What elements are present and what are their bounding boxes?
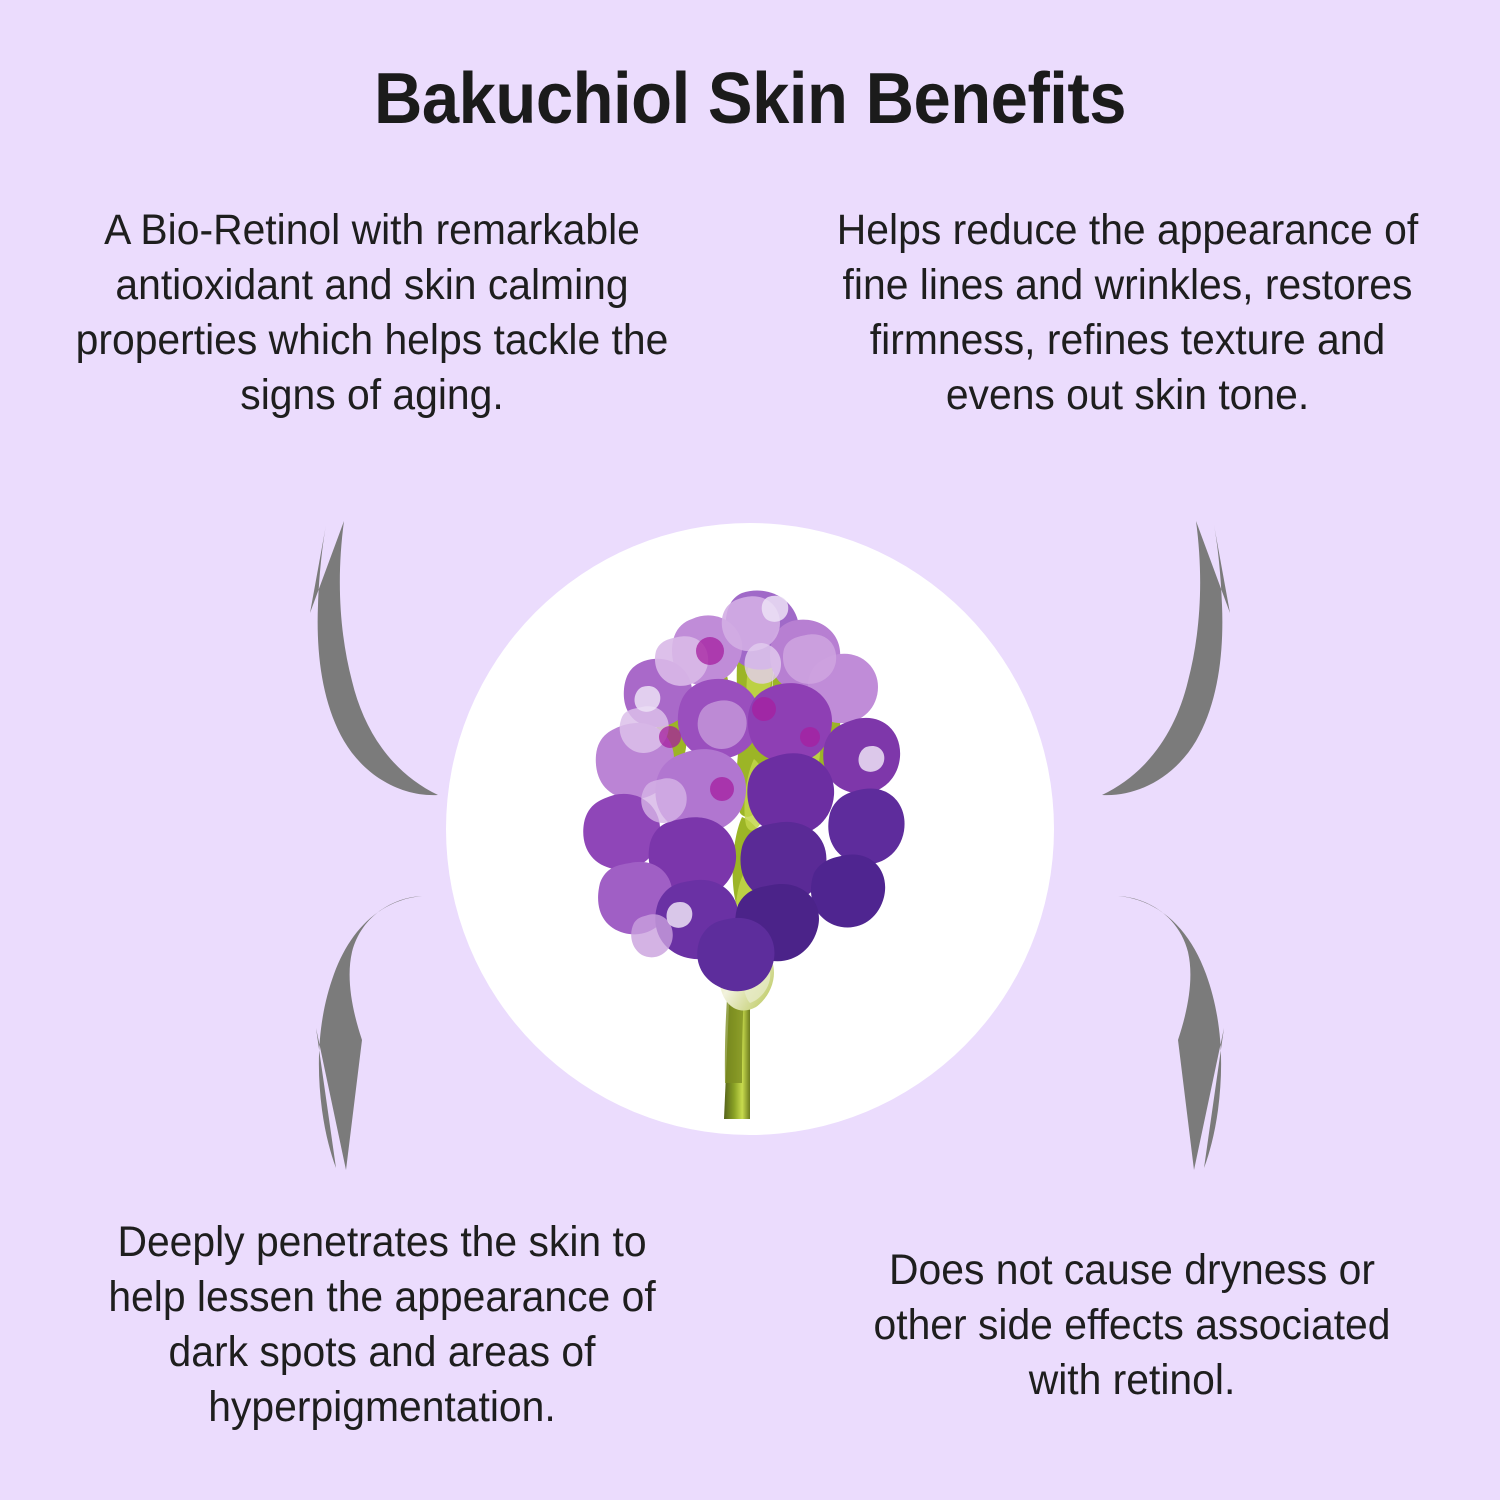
- infographic-canvas: Bakuchiol Skin Benefits A Bio-Retinol wi…: [0, 0, 1500, 1500]
- benefit-text-bottom-left: Deeply penetrates the skin to help lesse…: [78, 1215, 686, 1435]
- center-circle: [446, 523, 1054, 1135]
- arrow-bottom-right-icon: [1064, 878, 1244, 1208]
- arrow-top-right-icon: [1064, 485, 1244, 815]
- page-title: Bakuchiol Skin Benefits: [53, 58, 1448, 140]
- benefit-text-bottom-right: Does not cause dryness or other side eff…: [838, 1243, 1427, 1408]
- benefit-text-top-right: Helps reduce the appearance of fine line…: [816, 203, 1438, 423]
- benefit-text-top-left: A Bio-Retinol with remarkable antioxidan…: [68, 203, 676, 423]
- bakuchiol-flower-image: [446, 523, 1054, 1135]
